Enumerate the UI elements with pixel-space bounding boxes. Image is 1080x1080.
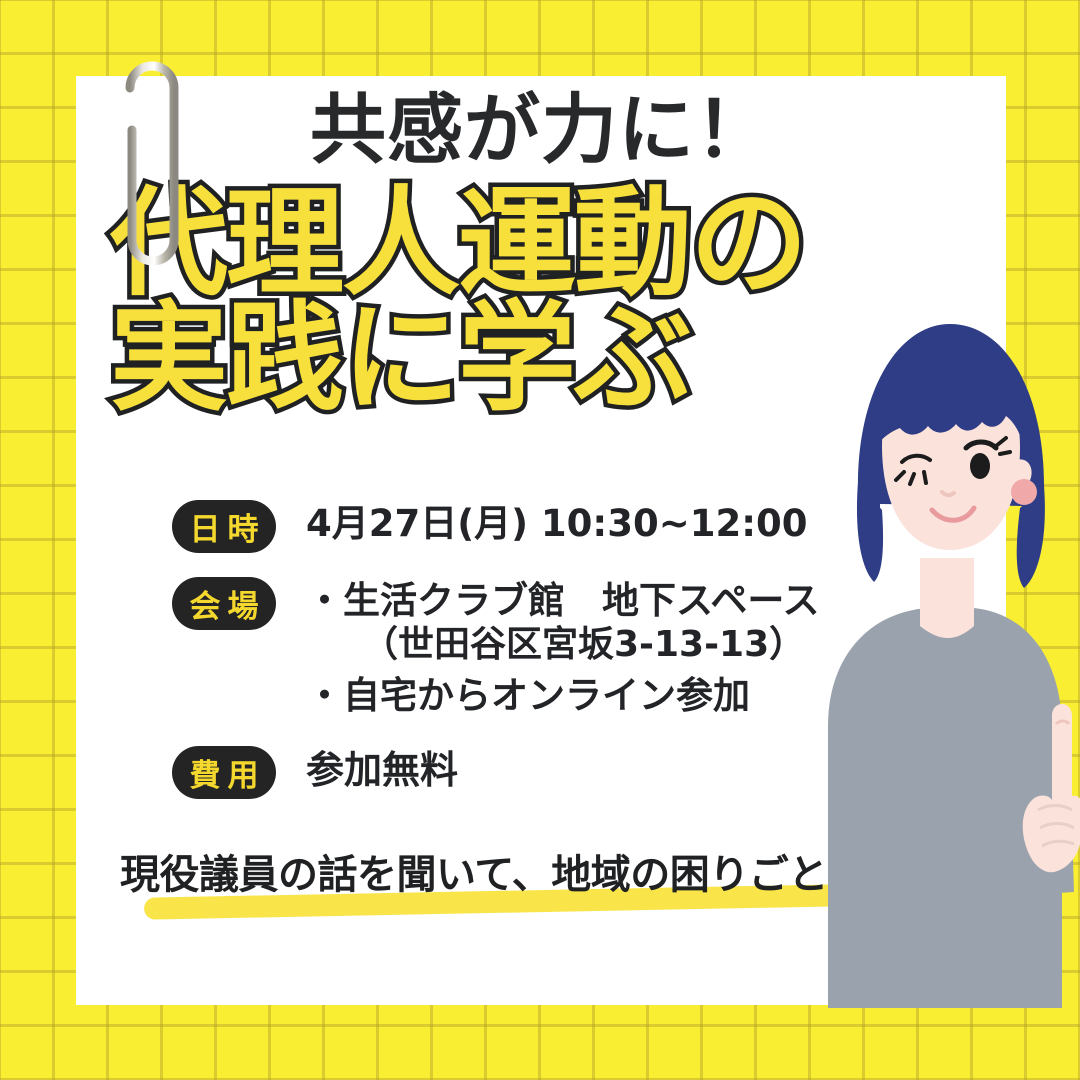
- venue-line-2: ・自宅からオンライン参加: [306, 673, 820, 718]
- page-headline: 共感が力に！: [76, 92, 1006, 168]
- paperclip-icon: [108, 40, 198, 280]
- earring: [1011, 479, 1037, 505]
- label-pill-venue: 会場: [172, 577, 276, 630]
- detail-value-fee: 参加無料: [306, 744, 458, 793]
- woman-pointing-illustration: [824, 296, 1080, 1008]
- detail-value-venue: ・生活クラブ館 地下スペース （世田谷区宮坂3-13-13） ・自宅からオンライ…: [306, 575, 820, 718]
- venue-address: （世田谷区宮坂3-13-13）: [306, 623, 820, 667]
- label-pill-fee: 費用: [172, 746, 276, 799]
- label-pill-datetime: 日時: [172, 500, 276, 553]
- event-poster: 共感が力に！ 代理人運動の 実践に学ぶ 日時 4月27日(月) 10:30~12…: [0, 0, 1080, 1080]
- detail-value-datetime: 4月27日(月) 10:30~12:00: [306, 498, 808, 546]
- venue-line-1: ・生活クラブ館 地下スペース: [306, 579, 820, 622]
